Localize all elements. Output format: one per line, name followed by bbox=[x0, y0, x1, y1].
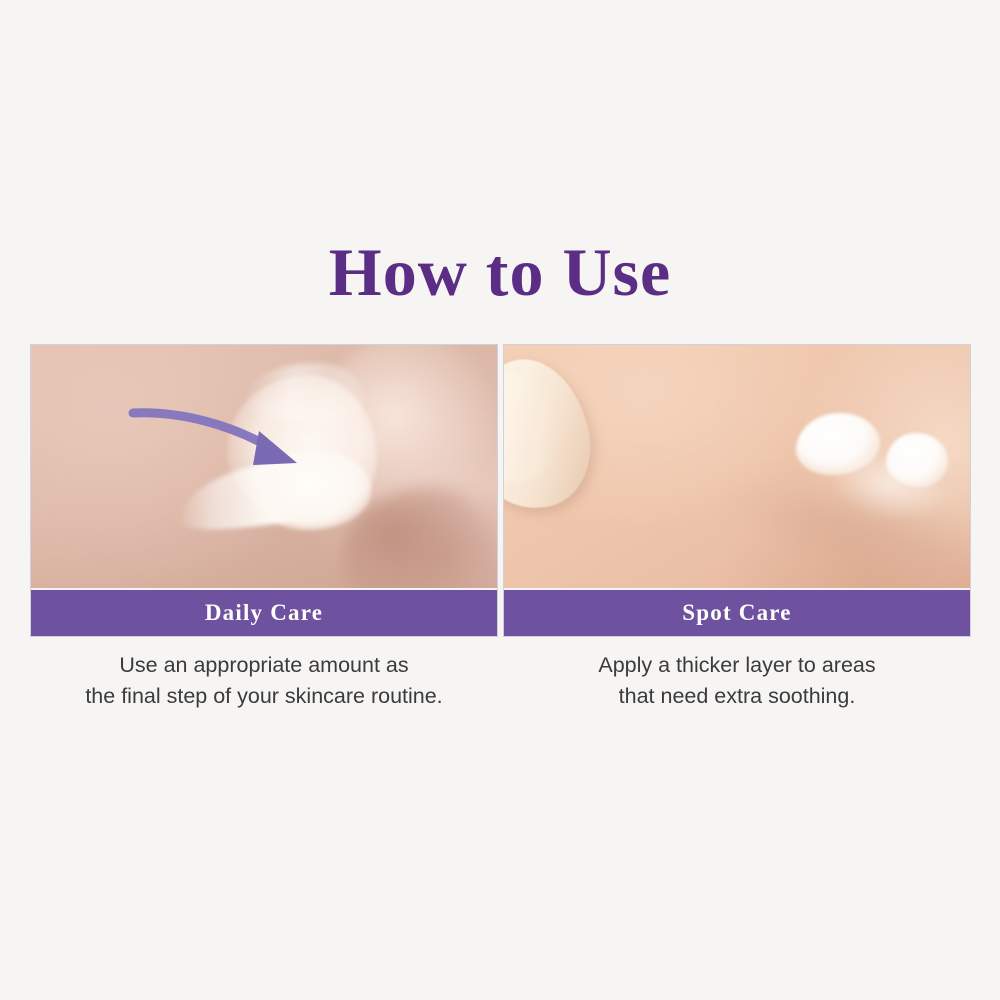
page-title: How to Use bbox=[0, 232, 1000, 312]
panel-bar-daily-care: Daily Care bbox=[31, 588, 497, 636]
panel-daily-care: Daily Care bbox=[31, 345, 497, 636]
panel-bar-label: Daily Care bbox=[205, 600, 323, 626]
caption-spot-care: Apply a thicker layer to areas that need… bbox=[504, 650, 970, 712]
caption-daily-care: Use an appropriate amount as the final s… bbox=[31, 650, 497, 712]
cream-dollop-small bbox=[886, 433, 948, 487]
caption-line: Apply a thicker layer to areas bbox=[504, 650, 970, 681]
caption-line: that need extra soothing. bbox=[504, 681, 970, 712]
caption-line: Use an appropriate amount as bbox=[31, 650, 497, 681]
caption-line: the final step of your skincare routine. bbox=[31, 681, 497, 712]
photo-daily-care bbox=[31, 345, 497, 588]
panel-spot-care: Spot Care bbox=[504, 345, 970, 636]
photo-spot-care bbox=[504, 345, 970, 588]
panel-bar-label: Spot Care bbox=[682, 600, 791, 626]
curved-arrow-icon bbox=[31, 345, 497, 588]
how-to-use-infographic: How to Use Daily Care bbox=[0, 0, 1000, 1000]
panel-bar-spot-care: Spot Care bbox=[504, 588, 970, 636]
